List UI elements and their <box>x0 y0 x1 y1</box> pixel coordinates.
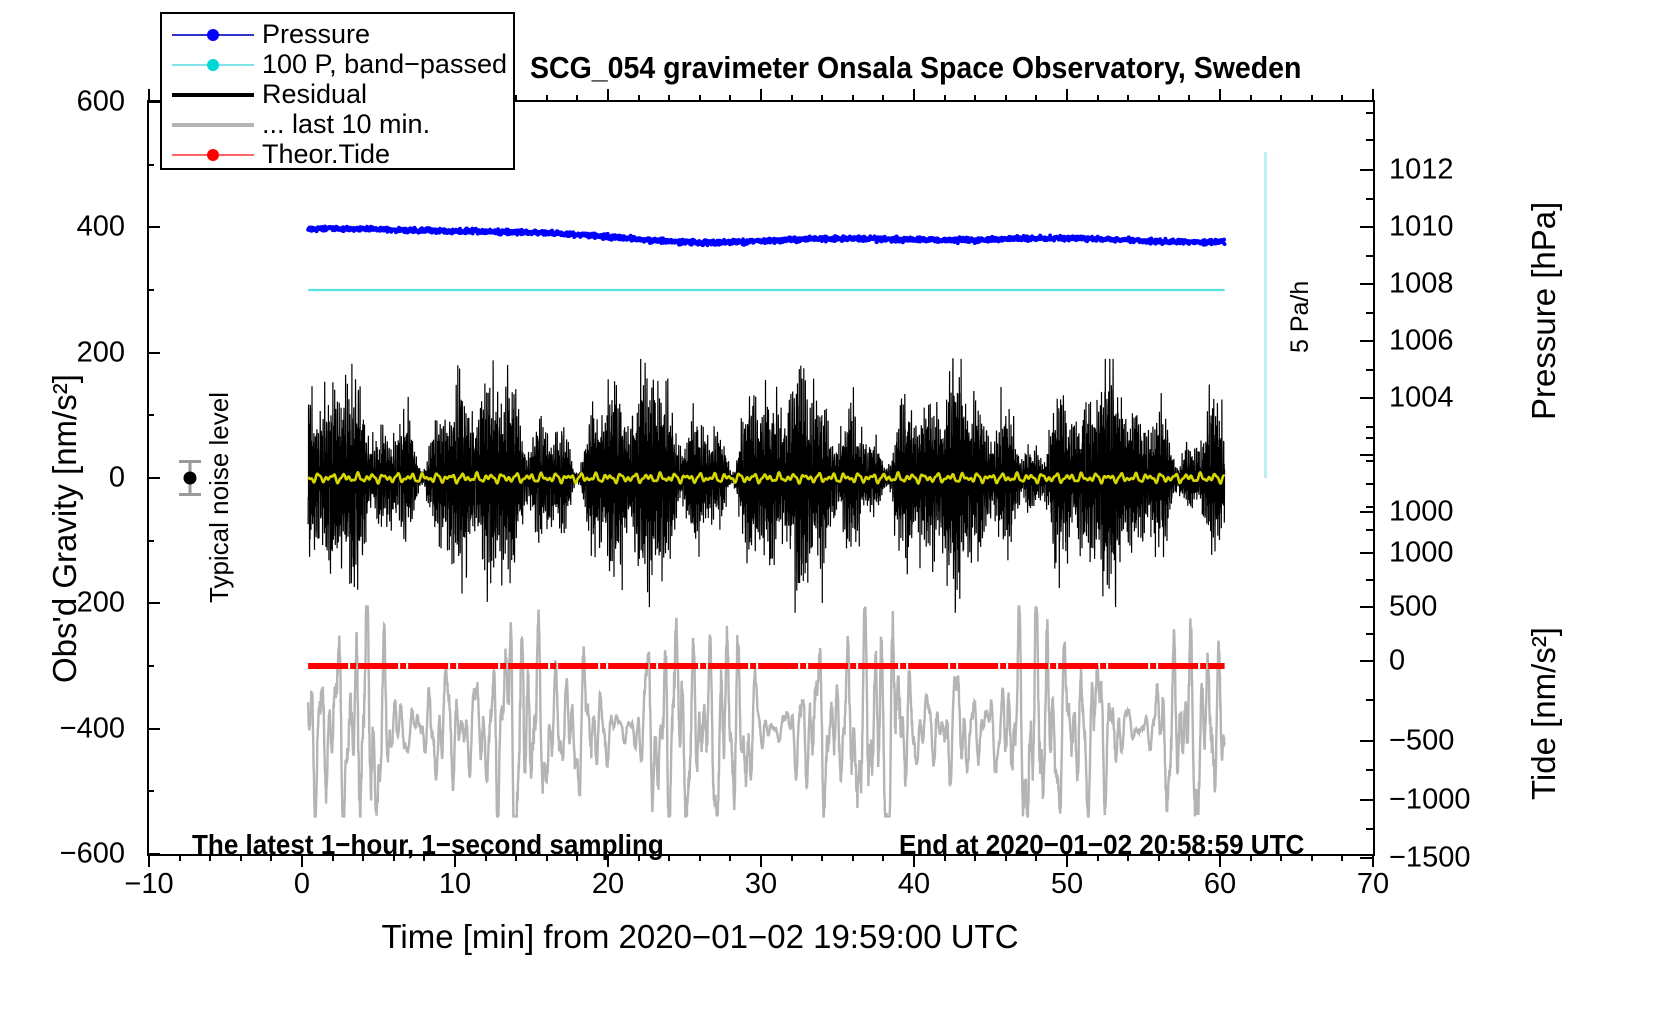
legend-label-bandpassed: 100 P, band−passed <box>262 50 507 79</box>
x-tick-top <box>515 95 517 102</box>
x-tick-top <box>1219 89 1221 102</box>
y-tick-right-tide <box>1360 799 1373 801</box>
y-tick-label-left: 600 <box>0 86 125 119</box>
gravimeter-plot-page: SCG_054 gravimeter Onsala Space Observat… <box>0 0 1660 1020</box>
y-tick-label-pressure: 1004 <box>1389 382 1454 415</box>
y-tick-label-tide: −500 <box>1389 725 1454 758</box>
pressure-rate-scale-bar <box>1264 152 1267 478</box>
x-tick-top <box>1005 95 1007 102</box>
y-tick-right-pressure <box>1360 169 1373 171</box>
x-tick-top <box>1372 89 1374 102</box>
legend-swatch-last10min <box>172 115 254 135</box>
legend-label-residual: Residual <box>262 80 367 109</box>
y-tick-label-pressure: 1006 <box>1389 325 1454 358</box>
series-layer <box>149 102 1373 854</box>
legend-item-pressure: Pressure <box>172 20 503 49</box>
x-tick-label: 20 <box>592 868 624 901</box>
y-tick-right-pressure <box>1360 454 1373 456</box>
y-tick-right-tide-minor <box>1366 699 1373 701</box>
y-tick-left <box>147 164 154 166</box>
end-time-note: End at 2020−01−02 20:58:59 UTC <box>899 829 1304 861</box>
y-tick-left <box>147 352 160 354</box>
y-tick-label-tide: 500 <box>1389 591 1437 624</box>
y-tick-right-pressure <box>1360 283 1373 285</box>
y-tick-left <box>147 289 154 291</box>
x-tick-top <box>1250 95 1252 102</box>
y-tick-right-tide-minor <box>1366 769 1373 771</box>
x-tick-label: 30 <box>745 868 777 901</box>
x-tick-top <box>546 95 548 102</box>
x-tick <box>1372 854 1374 867</box>
legend-swatch-residual <box>172 85 254 105</box>
x-tick <box>1341 854 1343 861</box>
bottom-axis-title: Time [min] from 2020−01−02 19:59:00 UTC <box>0 918 1400 956</box>
y-tick-right-tide-minor <box>1366 579 1373 581</box>
x-tick-top <box>699 95 701 102</box>
y-tick-left <box>147 477 160 479</box>
legend-swatch-theortide <box>172 145 254 165</box>
y-tick-label-tide: 1000 <box>1389 537 1454 570</box>
legend-swatch-pressure <box>172 25 254 45</box>
x-tick-label: 50 <box>1051 868 1083 901</box>
legend-item-last10min: ... last 10 min. <box>172 110 503 139</box>
x-tick <box>699 854 701 861</box>
legend-label-pressure: Pressure <box>262 20 370 49</box>
x-tick <box>821 854 823 861</box>
x-tick <box>882 854 884 861</box>
x-tick <box>1311 854 1313 861</box>
y-tick-left <box>147 665 154 667</box>
pressure-rate-scale-label: 5 Pa/h <box>1286 280 1315 352</box>
x-tick-top <box>638 95 640 102</box>
x-tick-top <box>1311 95 1313 102</box>
right-tide-axis-title: Tide [nm/s²] <box>1525 627 1563 800</box>
y-tick-left <box>147 226 160 228</box>
legend-label-theortide: Theor.Tide <box>262 140 390 169</box>
x-tick-top <box>576 95 578 102</box>
x-tick-label: 60 <box>1204 868 1236 901</box>
sampling-note: The latest 1−hour, 1−second sampling <box>192 829 664 861</box>
y-tick-right-pressure-minor <box>1366 312 1373 314</box>
x-tick-top <box>729 95 731 102</box>
y-tick-label-left: 400 <box>0 211 125 244</box>
x-tick-top <box>1158 95 1160 102</box>
y-tick-right-pressure-minor <box>1366 139 1373 141</box>
y-tick-right-tide <box>1360 660 1373 662</box>
x-tick <box>148 854 150 867</box>
left-axis-title: Obs'd Gravity [nm/s²] <box>46 374 84 683</box>
x-tick-label: 40 <box>898 868 930 901</box>
y-tick-label-left: 200 <box>0 336 125 369</box>
x-tick-top <box>668 95 670 102</box>
legend-item-residual: Residual <box>172 80 503 109</box>
y-tick-right-pressure <box>1360 340 1373 342</box>
y-tick-right-tide <box>1360 857 1373 859</box>
x-tick-top <box>1097 95 1099 102</box>
x-tick-top <box>974 95 976 102</box>
noise-level-label: Typical noise level <box>204 392 235 603</box>
y-tick-left <box>147 101 160 103</box>
x-tick <box>668 854 670 861</box>
y-tick-right-minor <box>1366 506 1373 508</box>
x-tick-top <box>1066 89 1068 102</box>
y-tick-left <box>147 728 160 730</box>
legend-label-last10min: ... last 10 min. <box>262 110 430 139</box>
y-tick-right-pressure <box>1360 397 1373 399</box>
x-tick-top <box>760 89 762 102</box>
y-tick-label-tide: 0 <box>1389 645 1405 678</box>
x-tick <box>179 854 181 861</box>
y-tick-left <box>147 853 160 855</box>
y-tick-right-pressure <box>1360 511 1373 513</box>
y-tick-right-minor <box>1366 460 1373 462</box>
y-tick-label-tide: −1000 <box>1389 784 1470 817</box>
x-tick <box>729 854 731 861</box>
legend: Pressure 100 P, band−passed Residual ...… <box>160 12 515 170</box>
y-tick-right-pressure-minor <box>1366 255 1373 257</box>
x-tick-top <box>913 89 915 102</box>
legend-item-theortide: Theor.Tide <box>172 140 503 169</box>
y-tick-right-tide <box>1360 552 1373 554</box>
right-pressure-axis-title: Pressure [hPa] <box>1525 202 1563 420</box>
plot-area <box>147 100 1375 856</box>
legend-swatch-bandpassed <box>172 55 254 75</box>
x-tick-top <box>1188 95 1190 102</box>
y-tick-label-pressure: 1008 <box>1389 268 1454 301</box>
y-tick-left <box>147 540 154 542</box>
y-tick-label-pressure: 1012 <box>1389 154 1454 187</box>
x-tick <box>760 854 762 867</box>
x-tick-label: 0 <box>294 868 310 901</box>
y-tick-right-pressure-minor <box>1366 198 1373 200</box>
y-tick-right-minor <box>1366 437 1373 439</box>
x-tick-top <box>882 95 884 102</box>
y-tick-right-tide <box>1360 740 1373 742</box>
y-tick-right-minor <box>1366 529 1373 531</box>
y-tick-label-tide: −1500 <box>1389 842 1470 875</box>
y-tick-label-left: −600 <box>0 838 125 871</box>
x-tick-top <box>791 95 793 102</box>
noise-level-marker <box>179 460 201 495</box>
y-tick-right-tide-minor <box>1366 828 1373 830</box>
x-tick <box>791 854 793 861</box>
x-tick-top <box>821 95 823 102</box>
legend-item-bandpassed: 100 P, band−passed <box>172 50 503 79</box>
y-tick-label-pressure: 1010 <box>1389 211 1454 244</box>
x-tick-top <box>852 95 854 102</box>
x-tick-top <box>607 89 609 102</box>
y-tick-right-tide-minor <box>1366 633 1373 635</box>
y-tick-right-tide <box>1360 606 1373 608</box>
y-tick-right-pressure <box>1360 226 1373 228</box>
y-tick-right-pressure-minor <box>1366 112 1373 114</box>
plot-canvas <box>149 102 1373 854</box>
y-tick-label-pressure: 1000 <box>1389 496 1454 529</box>
y-tick-right-pressure-minor <box>1366 426 1373 428</box>
x-tick-top <box>1341 95 1343 102</box>
x-tick-label: 70 <box>1357 868 1389 901</box>
x-tick-top <box>1127 95 1129 102</box>
y-tick-right-minor <box>1366 483 1373 485</box>
y-tick-left <box>147 602 160 604</box>
y-tick-left <box>147 790 154 792</box>
y-tick-right-pressure-minor <box>1366 369 1373 371</box>
page-title: SCG_054 gravimeter Onsala Space Observat… <box>530 50 1301 86</box>
x-tick-top <box>944 95 946 102</box>
x-tick <box>852 854 854 861</box>
x-tick-top <box>1035 95 1037 102</box>
x-tick-top <box>1280 95 1282 102</box>
x-tick-label: −10 <box>124 868 173 901</box>
y-tick-label-left: −400 <box>0 712 125 745</box>
y-tick-left <box>147 414 154 416</box>
x-tick-label: 10 <box>439 868 471 901</box>
